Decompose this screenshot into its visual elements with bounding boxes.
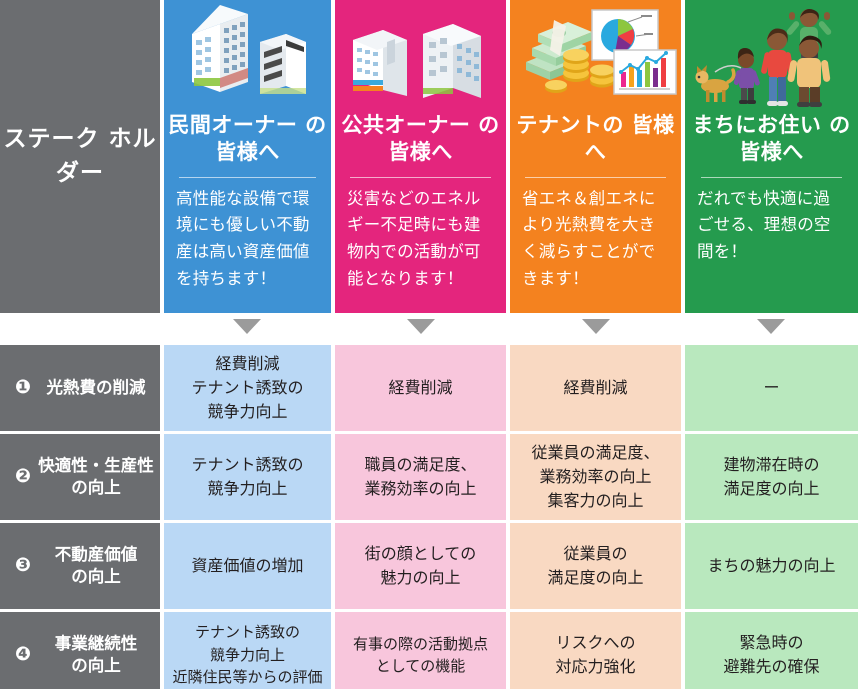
- header-column-private-owner: 民間オーナー の皆様へ 高性能な設備で環境にも優しい不動産は高い資産価値を持ちま…: [164, 0, 331, 313]
- cell-text: 経費削減 テナント誘致の 競争力向上: [185, 352, 309, 424]
- header-divider: [525, 177, 665, 178]
- table-cell: 街の顔としての 魅力の向上: [335, 523, 506, 609]
- header-title-public-owner: 公共オーナー の皆様へ: [335, 112, 506, 167]
- cell-text: 従業員の満足度、 業務効率の向上 集客力の向上: [525, 441, 665, 513]
- cell-text: テナント誘致の 競争力向上: [185, 453, 309, 501]
- cell-text: リスクへの 対応力強化: [549, 631, 641, 679]
- header-divider: [350, 177, 490, 178]
- table-cell: 経費削減: [510, 345, 681, 431]
- table-cell: 従業員の満足度、 業務効率の向上 集客力の向上: [510, 434, 681, 520]
- header-column-public-owner: 公共オーナー の皆様へ 災害などのエネルギー不足時にも建物内での活動が可能となり…: [335, 0, 506, 313]
- header-column-tenant: テナントの 皆様へ 省エネ＆創エネにより光熱費を大きく減らすことができます！: [510, 0, 681, 313]
- cell-text: ー: [757, 376, 785, 400]
- header-body-private-owner: 高性能な設備で環境にも優しい不動産は高い資産価値を持ちます！: [164, 186, 331, 293]
- stakeholder-title: ステーク ホルダー: [0, 0, 160, 313]
- row-label-text: 事業継続性 の向上: [38, 633, 160, 678]
- table-cell: テナント誘致の 競争力向上: [164, 434, 331, 520]
- header-divider: [179, 177, 316, 178]
- table-cell: 建物滞在時の 満足度の向上: [685, 434, 858, 520]
- row-label-cell: ❹ 事業継続性 の向上: [0, 612, 160, 689]
- office-buildings-icon: [164, 0, 331, 112]
- table-row: ❷ 快適性・生産性 の向上 テナント誘致の 競争力向上 職員の満足度、 業務効率…: [0, 434, 858, 520]
- table-row: ❶ 光熱費の削減 経費削減 テナント誘致の 競争力向上 経費削減 経費削減 ー: [0, 345, 858, 431]
- cell-text: 経費削減: [382, 376, 458, 400]
- header-body-public-owner: 災害などのエネルギー不足時にも建物内での活動が可能となります！: [335, 186, 506, 293]
- header-body-resident: だれでも快適に過ごせる、理想の空間を！: [685, 186, 858, 266]
- cell-text: 有事の際の活動拠点 としての機能: [347, 633, 494, 678]
- cell-text: 経費削減: [557, 376, 633, 400]
- row-label-text: 不動産価値 の向上: [38, 544, 160, 589]
- table-row: ❹ 事業継続性 の向上 テナント誘致の 競争力向上 近隣住民等からの評価 有事の…: [0, 612, 858, 689]
- row-label-cell: ❷ 快適性・生産性 の向上: [0, 434, 160, 520]
- row-label-cell: ❸ 不動産価値 の向上: [0, 523, 160, 609]
- stakeholder-header-cell: ステーク ホルダー: [0, 0, 160, 313]
- table-row: ❸ 不動産価値 の向上 資産価値の増加 街の顔としての 魅力の向上 従業員の 満…: [0, 523, 858, 609]
- header-divider: [701, 177, 843, 178]
- down-arrow-icon: [233, 319, 261, 334]
- cell-text: 建物滞在時の 満足度の向上: [717, 453, 825, 501]
- table-cell: 経費削減: [335, 345, 506, 431]
- table-cell: 従業員の 満足度の向上: [510, 523, 681, 609]
- header-body-tenant: 省エネ＆創エネにより光熱費を大きく減らすことができます！: [510, 186, 681, 293]
- table-cell: 緊急時の 避難先の確保: [685, 612, 858, 689]
- table-cell: 有事の際の活動拠点 としての機能: [335, 612, 506, 689]
- header-title-resident: まちにお住い の皆様へ: [685, 112, 858, 167]
- stakeholder-benefit-matrix: ステーク ホルダー: [0, 0, 858, 689]
- header-band: ステーク ホルダー: [0, 0, 858, 313]
- benefit-table: ❶ 光熱費の削減 経費削減 テナント誘致の 競争力向上 経費削減 経費削減 ー …: [0, 345, 858, 689]
- cell-text: まちの魅力の向上: [701, 554, 841, 578]
- table-cell: ー: [685, 345, 858, 431]
- arrow-band: [0, 313, 858, 345]
- table-cell: 資産価値の増加: [164, 523, 331, 609]
- table-cell: テナント誘致の 競争力向上 近隣住民等からの評価: [164, 612, 331, 689]
- table-cell: リスクへの 対応力強化: [510, 612, 681, 689]
- cell-text: 職員の満足度、 業務効率の向上: [358, 453, 482, 501]
- table-cell: 職員の満足度、 業務効率の向上: [335, 434, 506, 520]
- cell-text: テナント誘致の 競争力向上 近隣住民等からの評価: [166, 621, 328, 689]
- cell-text: 従業員の 満足度の向上: [541, 542, 649, 590]
- down-arrow-icon: [757, 319, 785, 334]
- table-cell: 経費削減 テナント誘致の 競争力向上: [164, 345, 331, 431]
- cell-text: 街の顔としての 魅力の向上: [359, 542, 483, 590]
- row-number-badge: ❷: [8, 464, 38, 490]
- family-walking-icon: [685, 0, 858, 112]
- row-number-badge: ❹: [8, 642, 38, 668]
- cell-text: 資産価値の増加: [185, 554, 309, 578]
- table-cell: まちの魅力の向上: [685, 523, 858, 609]
- header-column-resident: まちにお住い の皆様へ だれでも快適に過ごせる、理想の空間を！: [685, 0, 858, 313]
- row-label-text: 光熱費の削減: [38, 377, 160, 399]
- header-title-tenant: テナントの 皆様へ: [510, 112, 681, 167]
- row-label-cell: ❶ 光熱費の削減: [0, 345, 160, 431]
- row-label-text: 快適性・生産性 の向上: [38, 455, 160, 500]
- down-arrow-icon: [582, 319, 610, 334]
- cell-text: 緊急時の 避難先の確保: [717, 631, 825, 679]
- down-arrow-icon: [407, 319, 435, 334]
- row-number-badge: ❸: [8, 553, 38, 579]
- public-facility-icon: [335, 0, 506, 112]
- money-and-charts-icon: [510, 0, 681, 112]
- row-number-badge: ❶: [8, 375, 38, 401]
- header-title-private-owner: 民間オーナー の皆様へ: [164, 112, 331, 167]
